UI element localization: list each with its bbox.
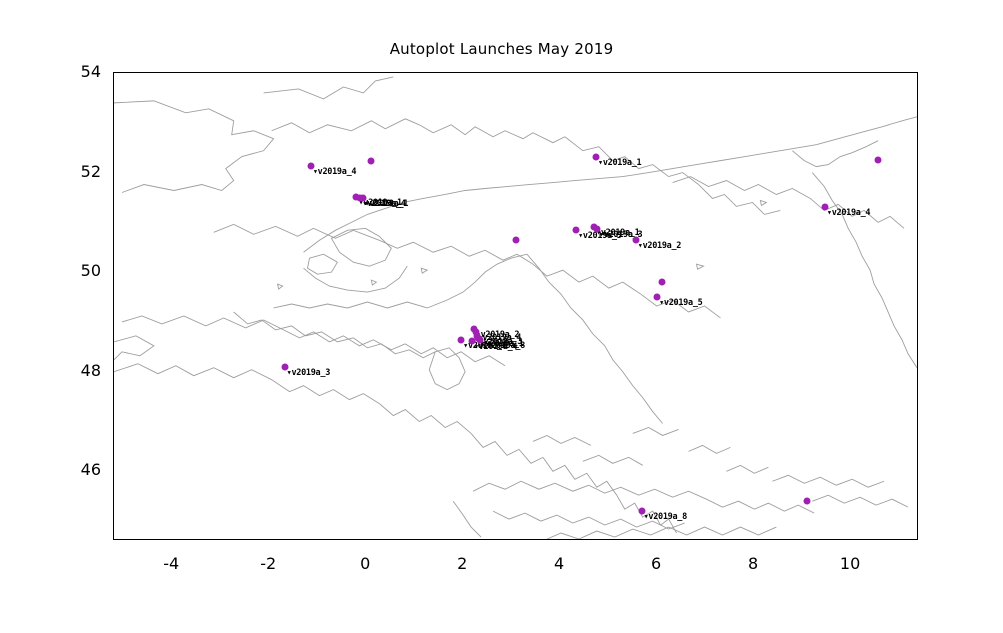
data-point[interactable] [658,279,665,286]
y-tick-major [113,73,114,74]
y-tick-label: 46 [55,460,101,479]
y-tick-major [113,471,114,472]
x-tick-label: 10 [820,554,880,573]
x-tick-label: 2 [432,554,492,573]
y-tick-minor [113,322,114,323]
data-point-label: ▾v2019a_2 [638,241,681,251]
x-tick-label: 6 [626,554,686,573]
x-tick-label: -4 [141,554,201,573]
y-tick-label: 50 [55,261,101,280]
y-tick-label: 54 [55,62,101,81]
y-tick-minor [113,222,114,223]
y-tick-minor [113,123,114,124]
data-point[interactable] [367,157,374,164]
x-tick-label: 8 [723,554,783,573]
data-point-label: ▾v2019a_1 [598,158,641,168]
data-point-label: ▾v2019a_4 [313,167,356,177]
plot-area[interactable] [113,72,918,540]
data-point-label: ▾v2019a_5 [659,298,702,308]
x-tick-label: 4 [529,554,589,573]
y-tick-label: 52 [55,162,101,181]
page-title: Autoplot Launches May 2019 [0,40,1003,58]
basemap-coastlines [114,73,917,539]
y-tick-minor [113,521,114,522]
figure-canvas: Autoplot Launches May 2019 [0,0,1003,633]
data-point-label: ▾v2019a_4 [827,208,870,218]
y-tick-major [113,272,114,273]
data-point-label: ▾v2019a_3 [287,368,330,378]
data-point[interactable] [513,237,520,244]
y-tick-major [113,173,114,174]
data-point-label: ▾v2019a_4 [474,342,517,352]
y-tick-label: 48 [55,361,101,380]
data-point-label: ▾v2019a_8 [644,512,687,522]
data-point[interactable] [875,156,882,163]
x-tick-label: -2 [238,554,298,573]
y-tick-major [113,372,114,373]
y-tick-minor [113,422,114,423]
x-tick-label: 0 [335,554,395,573]
data-point[interactable] [804,498,811,505]
data-point-label: ▾v2019a_1 [365,199,408,209]
